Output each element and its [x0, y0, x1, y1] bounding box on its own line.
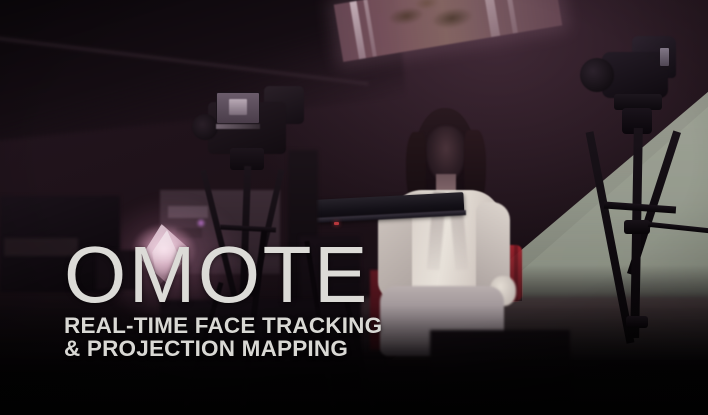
camera-lens	[192, 114, 218, 140]
camera-lens	[580, 58, 614, 92]
foreground-shadow-mass	[430, 330, 570, 410]
main-title: OMOTE	[64, 238, 382, 312]
tripod-collar	[626, 316, 648, 328]
seated-woman	[372, 108, 522, 358]
projection-band	[350, 1, 366, 59]
camera-screen	[660, 48, 669, 66]
projection-band	[503, 0, 518, 34]
subtitle-line-2: & PROJECTION MAPPING	[64, 338, 382, 360]
dslr-camera-right	[576, 24, 708, 194]
camera-monitor	[216, 92, 260, 124]
title-card: OMOTE REAL-TIME FACE TRACKING & PROJECTI…	[64, 238, 382, 360]
indicator-led	[334, 222, 339, 225]
purple-lamp-dot	[196, 218, 206, 228]
video-frame: OMOTE REAL-TIME FACE TRACKING & PROJECTI…	[0, 0, 708, 415]
tripod-collar	[624, 220, 650, 234]
monitor-control-strip	[216, 124, 260, 129]
monitor-preview-image	[229, 99, 247, 115]
subtitle-line-1: REAL-TIME FACE TRACKING	[64, 315, 382, 337]
